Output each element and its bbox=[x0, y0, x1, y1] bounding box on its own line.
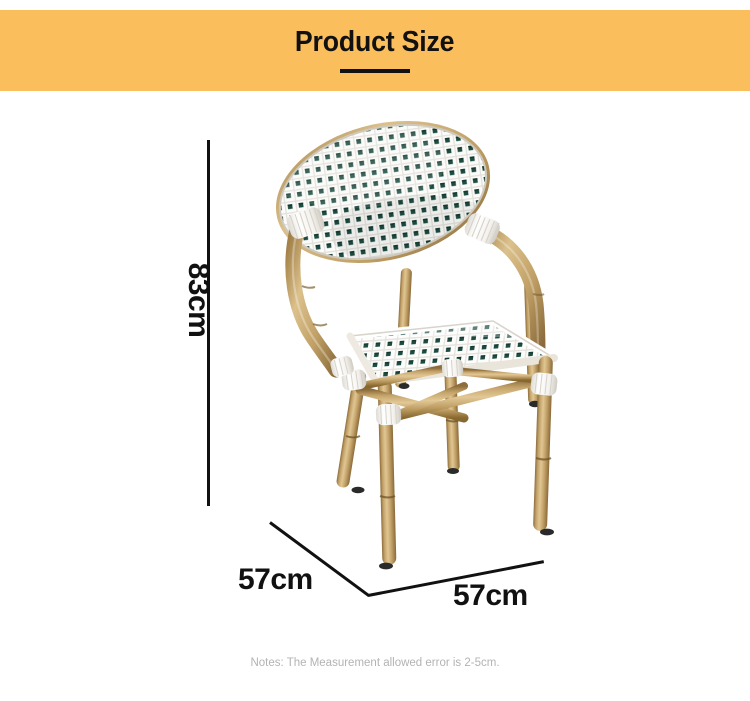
measurement-note: Notes: The Measurement allowed error is … bbox=[0, 657, 750, 669]
depth-dimension-label: 57cm bbox=[238, 563, 313, 597]
product-size-infographic: Product Size bbox=[0, 0, 750, 701]
title-underline-rule bbox=[340, 69, 410, 73]
header-banner: Product Size bbox=[0, 10, 750, 91]
chair-illustration bbox=[250, 118, 580, 568]
width-dimension-label: 57cm bbox=[453, 579, 528, 613]
page-title: Product Size bbox=[295, 28, 454, 57]
height-dimension-label: 83cm bbox=[181, 250, 215, 350]
